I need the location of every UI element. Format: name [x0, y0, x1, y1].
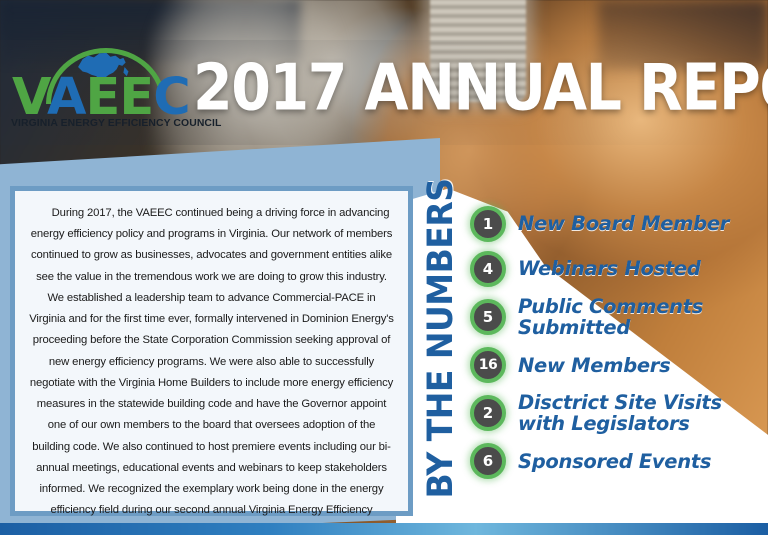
list-item: 16 New Members — [470, 347, 768, 383]
stat-badge: 5 — [470, 299, 506, 335]
vaeec-logo: VAEEC VIRGINIA ENERGY EFFICIENCY COUNCIL — [8, 48, 193, 132]
by-the-numbers-heading: BY THE NUMBERS — [420, 199, 461, 499]
list-item: 4 Webinars Hosted — [470, 251, 768, 287]
annual-report-poster: VAEEC VIRGINIA ENERGY EFFICIENCY COUNCIL… — [0, 0, 768, 535]
narrative-text-box: During 2017, the VAEEC continued being a… — [10, 186, 413, 516]
by-the-numbers-heading-wrap: BY THE NUMBERS — [414, 205, 466, 505]
narrative-paragraph: During 2017, the VAEEC continued being a… — [29, 203, 394, 535]
logo-tagline: VIRGINIA ENERGY EFFICIENCY COUNCIL — [11, 118, 193, 129]
stat-badge: 16 — [470, 347, 506, 383]
list-item: 6 Sponsored Events — [470, 443, 768, 479]
stat-label: New Board Member — [518, 213, 729, 234]
logo-letters: VAEEC — [12, 72, 190, 123]
list-item: 2 Disctrict Site Visits with Legislators — [470, 392, 768, 434]
stat-label: New Members — [518, 355, 670, 376]
bottom-accent-bar — [0, 523, 768, 535]
stat-badge: 1 — [470, 206, 506, 242]
statistics-list: 1 New Board Member 4 Webinars Hosted 5 P… — [470, 206, 768, 488]
stat-label: Disctrict Site Visits with Legislators — [518, 392, 768, 434]
stat-badge: 4 — [470, 251, 506, 287]
list-item: 5 Public Comments Submitted — [470, 296, 768, 338]
stat-label: Public Comments Submitted — [518, 296, 768, 338]
stat-label: Webinars Hosted — [518, 258, 701, 279]
stat-badge: 6 — [470, 443, 506, 479]
page-title: 2017 ANNUAL REPORT — [193, 57, 768, 121]
list-item: 1 New Board Member — [470, 206, 768, 242]
stat-badge: 2 — [470, 395, 506, 431]
stat-label: Sponsored Events — [518, 451, 711, 472]
